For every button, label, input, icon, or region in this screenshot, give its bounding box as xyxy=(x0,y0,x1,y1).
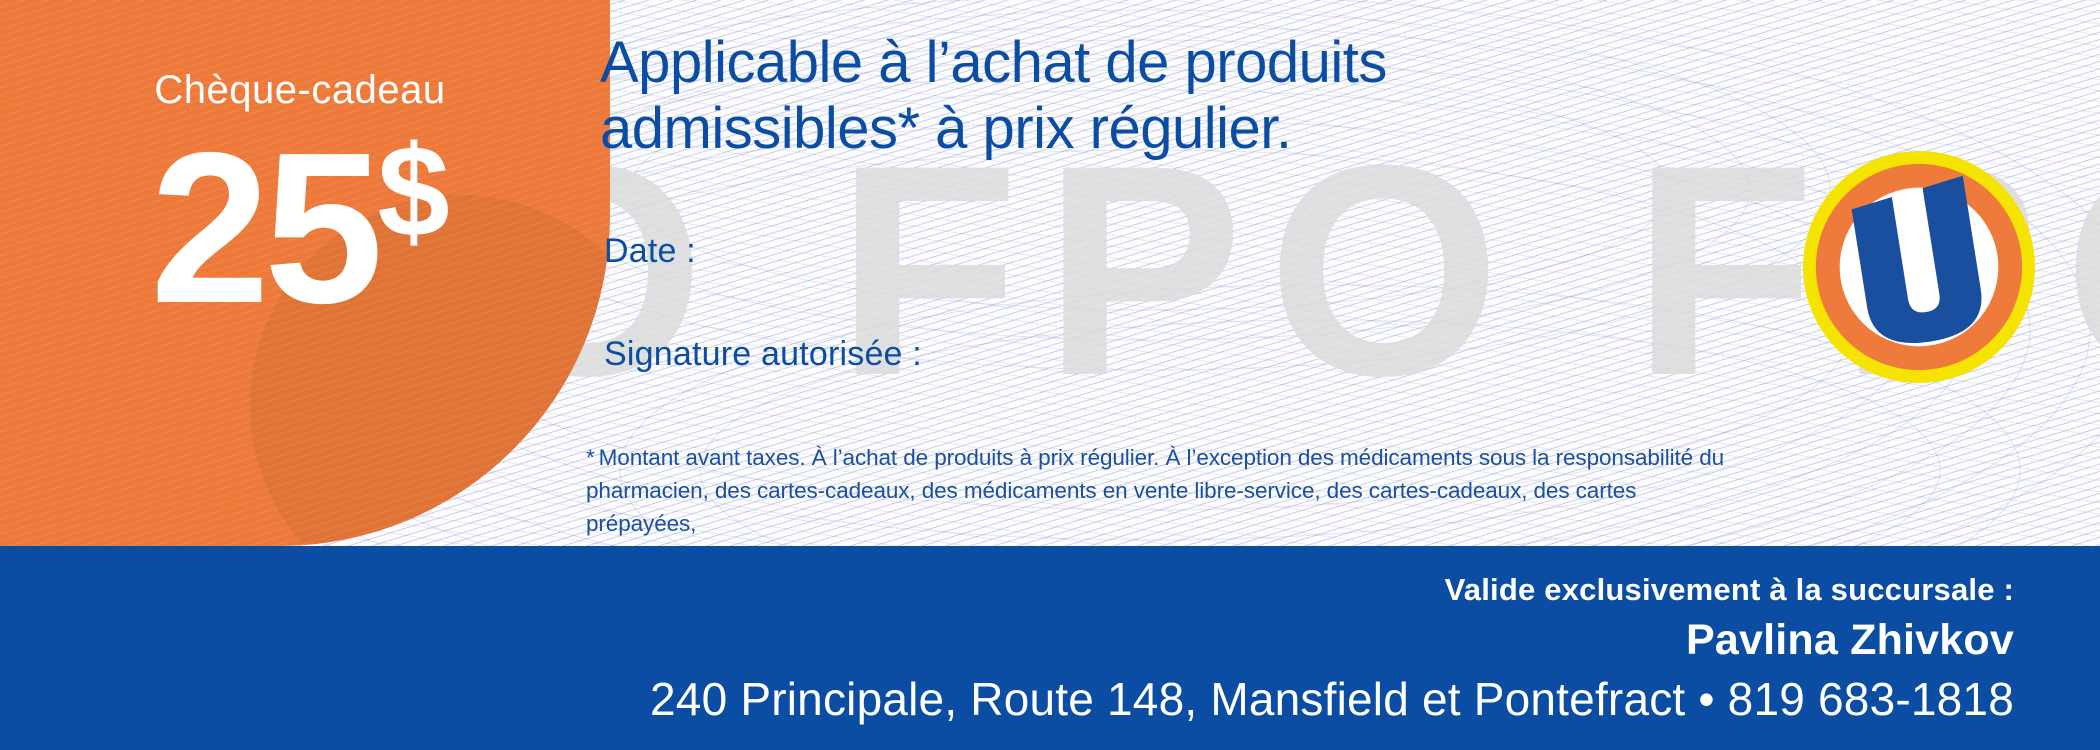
legal-asterisk: * xyxy=(586,445,595,470)
legal-line-2: pharmacien, des cartes-cadeaux, des médi… xyxy=(586,475,1746,541)
headline-line-2: admissibles* à prix régulier. xyxy=(600,96,1800,162)
headline-line-1: Applicable à l’achat de produits xyxy=(600,30,1800,96)
signature-field-label[interactable]: Signature autorisée : xyxy=(604,335,922,374)
date-field-label[interactable]: Date : xyxy=(604,232,696,271)
gift-certificate: FPO FPO FPO Chèque-cadeau 25$ Applicable… xyxy=(0,0,2100,750)
uniprix-logo-icon xyxy=(1800,148,2038,386)
legal-line-1-text: Montant avant taxes. À l’achat de produi… xyxy=(599,445,1724,470)
branch-name: Pavlina Zhivkov xyxy=(1686,616,2014,665)
amount-number: 25 xyxy=(150,107,377,348)
legal-line-1: *Montant avant taxes. À l’achat de produ… xyxy=(586,442,1746,475)
valid-at-label: Valide exclusivement à la succursale : xyxy=(1445,572,2014,608)
amount-value: 25$ xyxy=(0,120,600,335)
footer-bar: Valide exclusivement à la succursale : P… xyxy=(0,546,2100,750)
headline: Applicable à l’achat de produits admissi… xyxy=(600,30,1800,161)
amount-currency: $ xyxy=(377,118,449,264)
branch-address: 240 Principale, Route 148, Mansfield et … xyxy=(650,672,2014,726)
